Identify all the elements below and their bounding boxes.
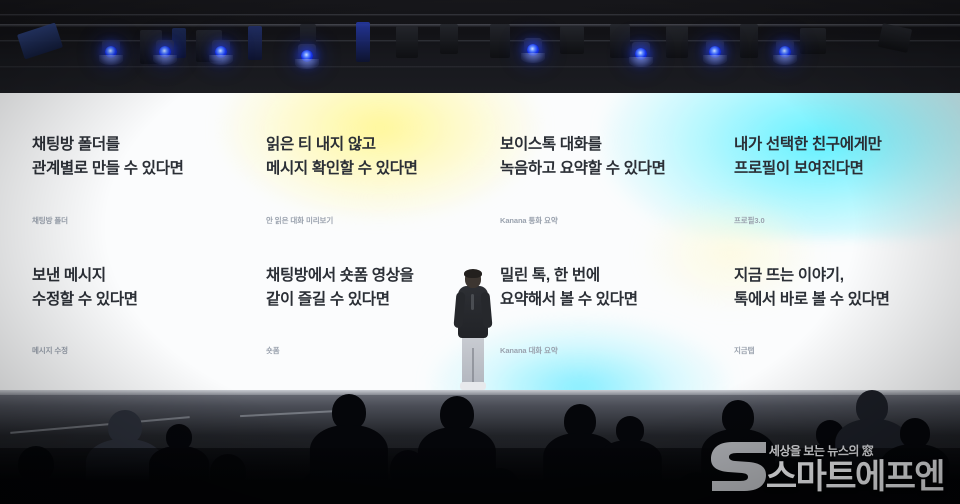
feature-card-title: 채팅방에서 숏폼 영상을 같이 즐길 수 있다면 [266, 264, 464, 313]
rig-housing [740, 24, 758, 58]
feature-card-tag: 프로필3.0 [734, 215, 765, 226]
feature-card: 채팅방 폴더를 관계별로 만들 수 있다면 채팅방 폴더 [12, 115, 246, 246]
stage-light [702, 40, 728, 70]
audience-head [166, 424, 192, 450]
feature-card-title: 지금 뜨는 이야기, 톡에서 바로 볼 수 있다면 [734, 264, 932, 313]
feature-card-title: 내가 선택한 친구에게만 프로필이 보여진다면 [734, 133, 932, 182]
feature-card: 보이스톡 대화를 녹음하고 요약할 수 있다면 Kanana 통화 요약 [480, 115, 714, 246]
stage-light [628, 42, 654, 72]
feature-card-tag: 지금탭 [734, 345, 754, 356]
truss-bar [0, 66, 960, 68]
audience-head [856, 390, 888, 424]
rig-housing [560, 26, 584, 54]
presenter-right-arm [480, 292, 492, 329]
truss-bar [0, 14, 960, 16]
rig-housing [610, 24, 630, 58]
audience-head [722, 400, 754, 434]
feature-card-tag: 채팅방 폴더 [32, 215, 68, 226]
audience-head [564, 404, 596, 438]
audience-head [440, 396, 474, 432]
feature-card-title: 읽은 티 내지 않고 메시지 확인할 수 있다면 [266, 133, 464, 182]
feature-card-tag: 숏폼 [266, 345, 280, 356]
microphone-icon [471, 294, 474, 310]
stage-light [294, 44, 320, 74]
rig-housing [356, 22, 370, 62]
rig-housing [440, 24, 458, 54]
rig-housing [17, 22, 63, 59]
stage-light [152, 40, 178, 70]
feature-card: 지금 뜨는 이야기, 톡에서 바로 볼 수 있다면 지금탭 [714, 246, 948, 377]
watermark-tagline: 세상을 보는 뉴스의 窓 [766, 445, 944, 457]
ceiling-truss [0, 0, 960, 93]
feature-card: 밀린 톡, 한 번에 요약해서 볼 수 있다면 Kanana 대화 요약 [480, 246, 714, 377]
rig-housing [490, 24, 510, 58]
rig-housing [666, 26, 688, 58]
feature-card-title: 밀린 톡, 한 번에 요약해서 볼 수 있다면 [500, 264, 698, 313]
rig-housing [248, 26, 262, 60]
stage-light [208, 40, 234, 70]
presenter-hair [464, 269, 482, 278]
feature-card-tag: Kanana 대화 요약 [500, 345, 558, 356]
stage-light [520, 38, 546, 68]
rig-housing [800, 28, 826, 54]
stage-light [98, 40, 124, 70]
feature-card: 읽은 티 내지 않고 메시지 확인할 수 있다면 안 읽은 대화 미리보기 [246, 115, 480, 246]
feature-card: 내가 선택한 친구에게만 프로필이 보여진다면 프로필3.0 [714, 115, 948, 246]
smartfn-s-logo-icon [708, 436, 770, 494]
rig-housing [396, 26, 418, 58]
audience-head [616, 416, 644, 444]
feature-card-tag: 안 읽은 대화 미리보기 [266, 215, 333, 226]
stage-light [772, 40, 798, 70]
feature-card-title: 보낸 메시지 수정할 수 있다면 [32, 264, 230, 313]
feature-card-tag: Kanana 통화 요약 [500, 215, 558, 226]
rig-housing [878, 23, 912, 53]
screenshot-root: 채팅방 폴더를 관계별로 만들 수 있다면 채팅방 폴더 읽은 티 내지 않고 … [0, 0, 960, 504]
feature-card-title: 보이스톡 대화를 녹음하고 요약할 수 있다면 [500, 133, 698, 182]
truss-bar [0, 24, 960, 27]
feature-card: 보낸 메시지 수정할 수 있다면 메시지 수정 [12, 246, 246, 377]
watermark-brand-name: 스마트에프엔 [766, 460, 944, 494]
feature-card-tag: 메시지 수정 [32, 345, 68, 356]
watermark-text-block: 세상을 보는 뉴스의 窓 스마트에프엔 [766, 445, 944, 494]
feature-card-title: 채팅방 폴더를 관계별로 만들 수 있다면 [32, 133, 230, 182]
feature-card: 채팅방에서 숏폼 영상을 같이 즐길 수 있다면 숏폼 [246, 246, 480, 377]
audience-head [332, 394, 366, 430]
audience-head [108, 410, 142, 444]
broadcaster-watermark: 세상을 보는 뉴스의 窓 스마트에프엔 [708, 436, 944, 494]
